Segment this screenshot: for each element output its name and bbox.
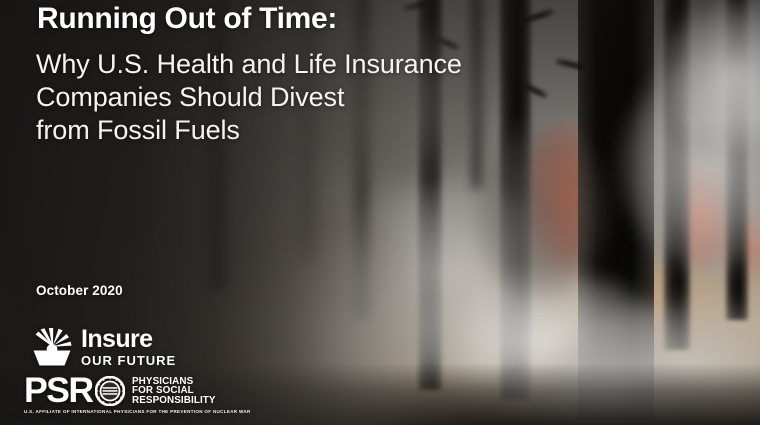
psr-name-line-3: RESPONSIBILITY (132, 396, 216, 406)
iof-line-2: OUR FUTURE (81, 354, 176, 367)
psr-logo-row: PSR (24, 376, 253, 406)
insure-our-future-wordmark: Insure OUR FUTURE (81, 327, 176, 367)
subtitle-line-1: Why U.S. Health and Life Insurance (36, 48, 462, 81)
insure-our-future-logo[interactable]: Insure OUR FUTURE (30, 327, 176, 367)
page-subtitle: Why U.S. Health and Life Insurance Compa… (36, 48, 462, 147)
report-cover: Running Out of Time: Why U.S. Health and… (0, 0, 760, 425)
psr-tagline: U.S. AFFILIATE OF INTERNATIONAL PHYSICIA… (24, 409, 251, 414)
subtitle-line-3: from Fossil Fuels (36, 114, 462, 147)
sunrise-bowl-icon (30, 328, 74, 366)
nobel-peace-prize-seal-icon (95, 376, 125, 406)
psr-wordmark: PSR (24, 376, 93, 406)
psr-logo[interactable]: PSR (24, 376, 253, 414)
publication-date: October 2020 (36, 283, 123, 298)
subtitle-line-2: Companies Should Divest (36, 81, 462, 114)
cover-content: Running Out of Time: Why U.S. Health and… (0, 0, 760, 425)
iof-line-1: Insure (81, 327, 176, 352)
page-title: Running Out of Time: (37, 2, 337, 36)
psr-name-stack: PHYSICIANS FOR SOCIAL RESPONSIBILITY (132, 377, 221, 406)
